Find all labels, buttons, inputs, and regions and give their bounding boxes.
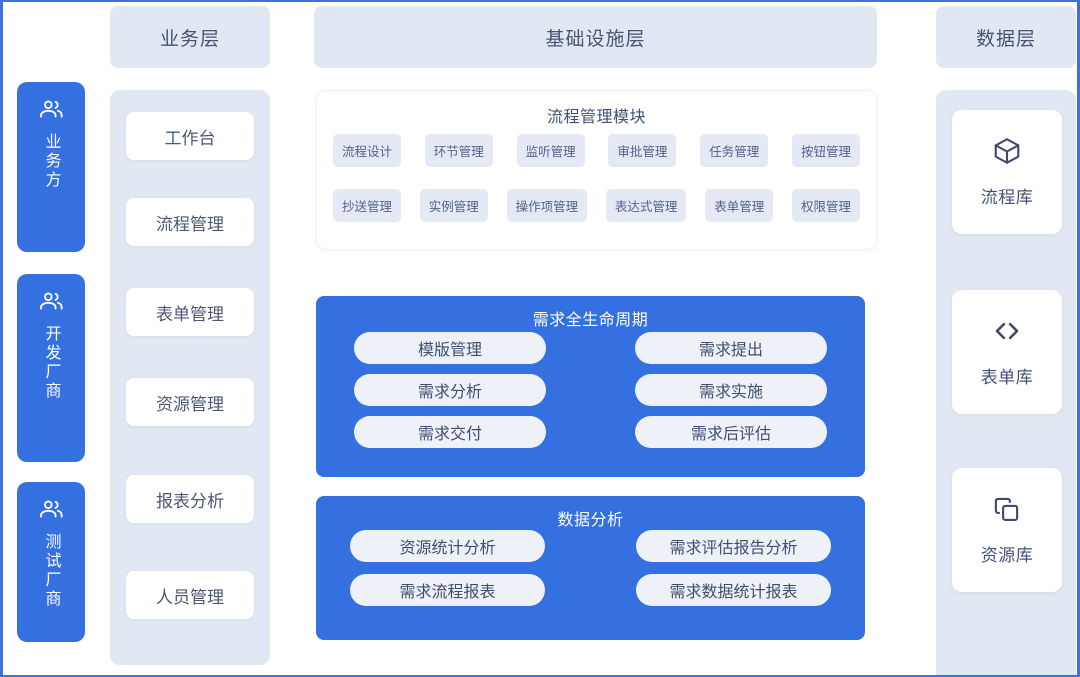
process-tag-1-1[interactable]: 实例管理 (420, 189, 488, 222)
lifecycle-pill-1-0[interactable]: 需求分析 (354, 374, 546, 406)
process-tag-0-3[interactable]: 审批管理 (608, 134, 676, 167)
actor-label-2: 测试厂商 (40, 533, 61, 609)
data-analysis-grid: 资源统计分析需求评估报告分析需求流程报表需求数据统计报表 (350, 530, 831, 618)
layer-header-data-label: 数据层 (976, 24, 1036, 51)
data-analysis-pill-1-1[interactable]: 需求数据统计报表 (636, 574, 831, 606)
process-tag-row-1: 抄送管理实例管理操作项管理表达式管理表单管理权限管理 (333, 189, 860, 222)
process-tag-1-0[interactable]: 抄送管理 (333, 189, 401, 222)
business-item-label-2: 表单管理 (156, 300, 224, 325)
layer-header-business: 业务层 (110, 6, 270, 68)
layer-header-infrastructure: 基础设施层 (314, 6, 877, 68)
business-item-0[interactable]: 工作台 (126, 112, 254, 160)
data-analysis-pill-0-1[interactable]: 需求评估报告分析 (636, 530, 831, 562)
data-layer-card-label-1: 表单库 (981, 363, 1034, 388)
actor-label-0: 业务方 (40, 133, 61, 190)
process-tag-1-5[interactable]: 权限管理 (792, 189, 860, 222)
data-analysis-title: 数据分析 (316, 506, 865, 530)
process-tag-0-0[interactable]: 流程设计 (333, 134, 401, 167)
lifecycle-pill-0-1[interactable]: 需求提出 (635, 332, 827, 364)
lifecycle-pill-2-1[interactable]: 需求后评估 (635, 416, 827, 448)
business-layer-column: 工作台流程管理表单管理资源管理报表分析人员管理 (110, 90, 270, 665)
business-item-label-0: 工作台 (165, 124, 216, 149)
business-item-5[interactable]: 人员管理 (126, 571, 254, 619)
data-analysis-panel: 数据分析 资源统计分析需求评估报告分析需求流程报表需求数据统计报表 (316, 496, 865, 640)
process-tag-1-3[interactable]: 表达式管理 (606, 189, 687, 222)
infrastructure-layer-column: 流程管理模块 流程设计环节管理监听管理审批管理任务管理按钮管理抄送管理实例管理操… (314, 90, 877, 665)
process-tag-row-0: 流程设计环节管理监听管理审批管理任务管理按钮管理 (333, 134, 860, 167)
lifecycle-row-0: 模版管理需求提出 (354, 332, 827, 364)
code-brackets-icon (992, 316, 1022, 351)
lifecycle-row-1: 需求分析需求实施 (354, 374, 827, 406)
data-layer-card-label-2: 资源库 (981, 541, 1034, 566)
process-tag-0-2[interactable]: 监听管理 (517, 134, 585, 167)
users-icon (38, 96, 64, 127)
business-item-label-1: 流程管理 (156, 210, 224, 235)
data-analysis-pill-1-0[interactable]: 需求流程报表 (350, 574, 545, 606)
process-module-title: 流程管理模块 (317, 103, 876, 127)
data-layer-card-1[interactable]: 表单库 (952, 290, 1062, 414)
lifecycle-pill-1-1[interactable]: 需求实施 (635, 374, 827, 406)
users-icon (38, 496, 64, 527)
lifecycle-row-2: 需求交付需求后评估 (354, 416, 827, 448)
cube-icon (992, 136, 1022, 171)
data-analysis-row-1: 需求流程报表需求数据统计报表 (350, 574, 831, 606)
business-item-1[interactable]: 流程管理 (126, 198, 254, 246)
lifecycle-pill-2-0[interactable]: 需求交付 (354, 416, 546, 448)
data-analysis-row-0: 资源统计分析需求评估报告分析 (350, 530, 831, 562)
business-item-2[interactable]: 表单管理 (126, 288, 254, 336)
actor-card-2[interactable]: 测试厂商 (17, 482, 85, 642)
requirement-lifecycle-grid: 模版管理需求提出需求分析需求实施需求交付需求后评估 (354, 332, 827, 458)
business-item-3[interactable]: 资源管理 (126, 378, 254, 426)
process-tag-0-4[interactable]: 任务管理 (700, 134, 768, 167)
lifecycle-pill-0-0[interactable]: 模版管理 (354, 332, 546, 364)
data-layer-column: 流程库表单库资源库 (936, 90, 1076, 677)
business-item-label-5: 人员管理 (156, 583, 224, 608)
process-tag-1-2[interactable]: 操作项管理 (507, 189, 588, 222)
requirement-lifecycle-panel: 需求全生命周期 模版管理需求提出需求分析需求实施需求交付需求后评估 (316, 296, 865, 477)
business-item-4[interactable]: 报表分析 (126, 475, 254, 523)
actor-rail: 业务方开发厂商测试厂商 (3, 70, 99, 677)
business-item-label-4: 报表分析 (156, 487, 224, 512)
copy-stack-icon (992, 494, 1022, 529)
business-item-label-3: 资源管理 (156, 390, 224, 415)
users-icon (38, 288, 64, 319)
data-layer-card-2[interactable]: 资源库 (952, 468, 1062, 592)
actor-card-1[interactable]: 开发厂商 (17, 274, 85, 462)
process-tag-1-4[interactable]: 表单管理 (705, 189, 773, 222)
data-analysis-pill-0-0[interactable]: 资源统计分析 (350, 530, 545, 562)
requirement-lifecycle-title: 需求全生命周期 (316, 306, 865, 330)
layer-header-infrastructure-label: 基础设施层 (545, 24, 645, 51)
architecture-diagram: 业务层 基础设施层 数据层 业务方开发厂商测试厂商 工作台流程管理表单管理资源管… (0, 0, 1080, 677)
data-layer-card-0[interactable]: 流程库 (952, 110, 1062, 234)
actor-card-0[interactable]: 业务方 (17, 82, 85, 252)
process-management-module: 流程管理模块 流程设计环节管理监听管理审批管理任务管理按钮管理抄送管理实例管理操… (316, 90, 877, 250)
layer-header-data: 数据层 (936, 6, 1076, 68)
process-tag-0-5[interactable]: 按钮管理 (792, 134, 860, 167)
actor-label-1: 开发厂商 (40, 325, 61, 401)
process-tag-0-1[interactable]: 环节管理 (425, 134, 493, 167)
data-layer-card-label-0: 流程库 (981, 183, 1034, 208)
layer-header-business-label: 业务层 (160, 24, 220, 51)
process-module-tag-grid: 流程设计环节管理监听管理审批管理任务管理按钮管理抄送管理实例管理操作项管理表达式… (333, 134, 860, 244)
